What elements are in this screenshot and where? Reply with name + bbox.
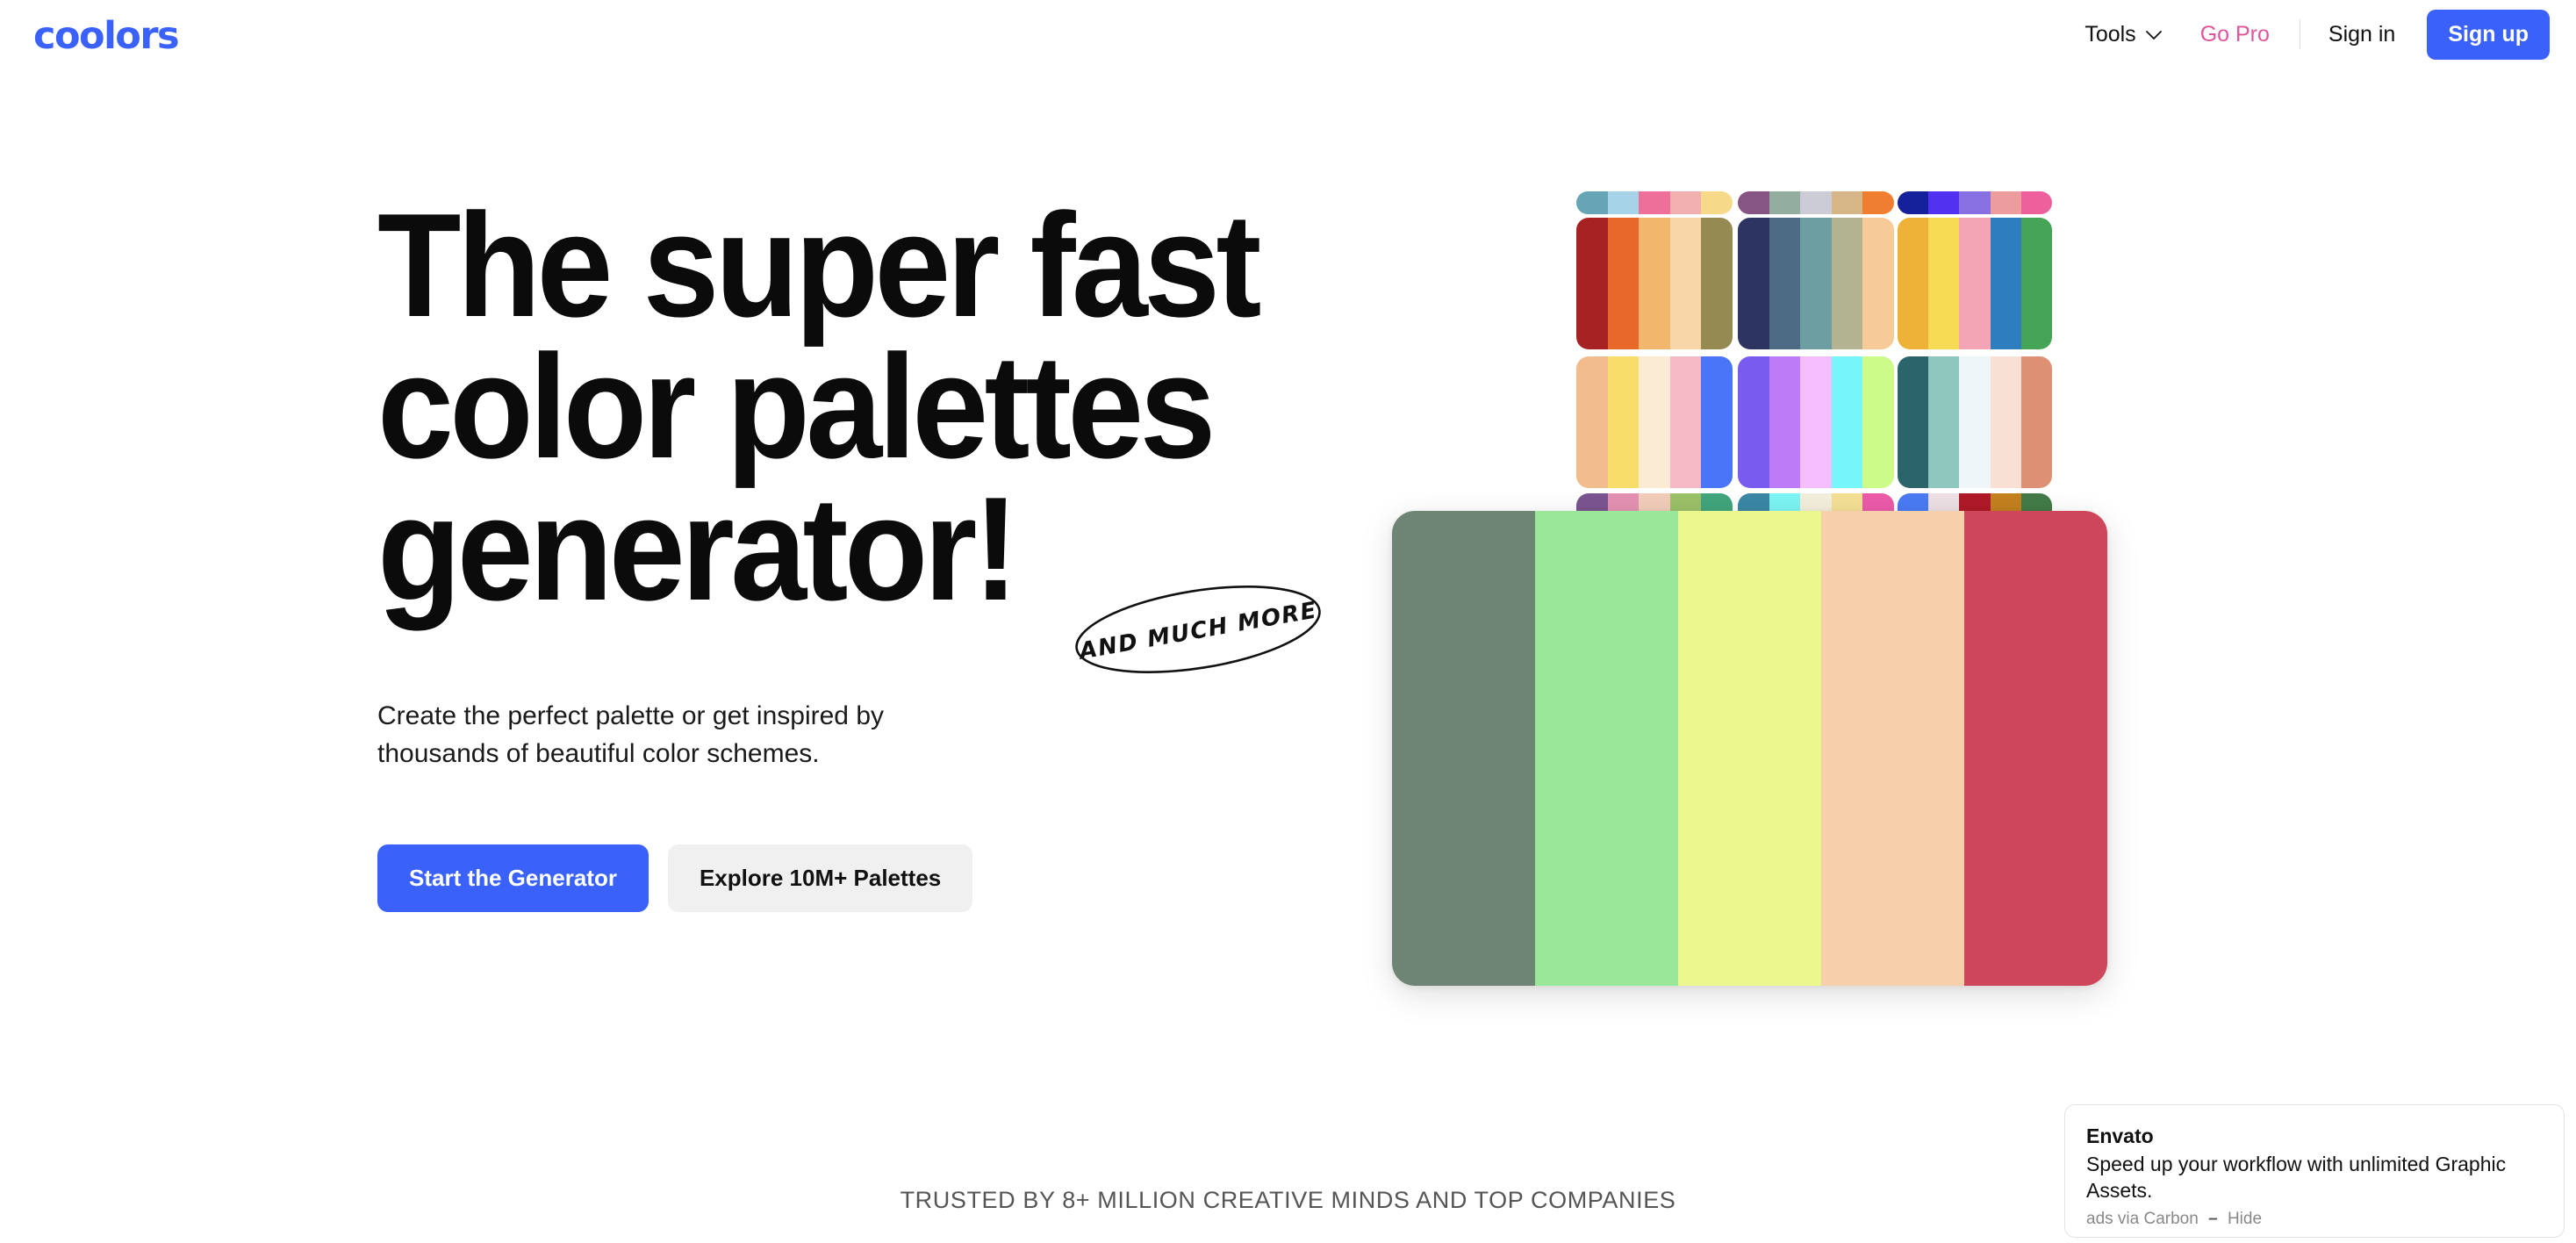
palette-swatch[interactable] <box>1991 356 2021 488</box>
ad-footer: ads via Carbon – Hide <box>2086 1210 2543 1229</box>
featured-palette-swatch[interactable] <box>1535 511 1678 986</box>
ad-hide-link[interactable]: Hide <box>2228 1210 2262 1228</box>
nav-tools-label: Tools <box>2084 22 2135 47</box>
chevron-down-icon <box>2146 31 2162 40</box>
palette-swatch[interactable] <box>1928 356 1959 488</box>
nav-item-tools[interactable]: Tools <box>2065 22 2180 47</box>
nav-item-go-pro[interactable]: Go Pro <box>2181 22 2289 47</box>
palette-row[interactable] <box>1576 191 1733 214</box>
nav-divider <box>2300 19 2300 49</box>
ad-separator: – <box>2208 1210 2218 1228</box>
palette-row[interactable] <box>1576 356 1733 488</box>
palette-swatch[interactable] <box>1800 356 1832 488</box>
carbon-ad-card[interactable]: Envato Speed up your workflow with unlim… <box>2064 1104 2565 1238</box>
palette-swatch[interactable] <box>1991 191 2021 214</box>
palette-row[interactable] <box>1738 218 1894 349</box>
page-title: The super fast color palettes generator! <box>377 195 1374 620</box>
palette-swatch[interactable] <box>1608 218 1640 349</box>
palette-swatch[interactable] <box>1576 191 1608 214</box>
palette-swatch[interactable] <box>1608 191 1640 214</box>
palette-swatch[interactable] <box>1670 218 1702 349</box>
top-navigation-bar: coolors Tools Go Pro Sign in Sign up <box>0 0 2576 68</box>
palette-swatch[interactable] <box>1898 191 1928 214</box>
coolors-logo[interactable]: coolors <box>33 14 178 58</box>
palette-swatch[interactable] <box>1928 218 1959 349</box>
palette-row[interactable] <box>1576 218 1733 349</box>
palette-swatch[interactable] <box>1800 218 1832 349</box>
nav-right-group: Tools Go Pro Sign in Sign up <box>2065 0 2550 68</box>
palette-swatch[interactable] <box>1769 218 1801 349</box>
sign-up-button[interactable]: Sign up <box>2427 10 2550 60</box>
ad-body-text: Speed up your workflow with unlimited Gr… <box>2086 1151 2543 1204</box>
palette-swatch[interactable] <box>1738 356 1769 488</box>
palette-swatch[interactable] <box>1701 218 1733 349</box>
palette-swatch[interactable] <box>1701 356 1733 488</box>
start-generator-button[interactable]: Start the Generator <box>377 844 649 912</box>
palette-swatch[interactable] <box>1576 356 1608 488</box>
palette-swatch[interactable] <box>1832 356 1863 488</box>
palette-row[interactable] <box>1738 356 1894 488</box>
featured-palette-swatch[interactable] <box>1821 511 1964 986</box>
palette-swatch[interactable] <box>1639 218 1670 349</box>
coolors-landing-page: coolors Tools Go Pro Sign in Sign up The… <box>0 0 2576 1243</box>
palette-swatch[interactable] <box>1608 356 1640 488</box>
palette-swatch[interactable] <box>1769 191 1801 214</box>
palette-swatch[interactable] <box>1959 218 1990 349</box>
palette-swatch[interactable] <box>1898 218 1928 349</box>
sign-in-link[interactable]: Sign in <box>2311 22 2413 47</box>
palette-swatch[interactable] <box>2021 218 2052 349</box>
ad-title: Envato <box>2086 1124 2543 1148</box>
palette-swatch[interactable] <box>1738 191 1769 214</box>
featured-palette-swatch[interactable] <box>1964 511 2107 986</box>
palette-swatch[interactable] <box>1959 191 1990 214</box>
palette-swatch[interactable] <box>1639 356 1670 488</box>
palette-swatch[interactable] <box>1991 218 2021 349</box>
palette-swatch[interactable] <box>1639 191 1670 214</box>
palette-swatch[interactable] <box>2021 356 2052 488</box>
palette-swatch[interactable] <box>1959 356 1990 488</box>
palette-swatch[interactable] <box>1862 356 1894 488</box>
palette-swatch[interactable] <box>1670 191 1702 214</box>
palette-swatch[interactable] <box>1862 191 1894 214</box>
palette-swatch[interactable] <box>1670 356 1702 488</box>
palette-row[interactable] <box>1898 218 2052 349</box>
hero-headline-block: The super fast color palettes generator! <box>377 195 1448 620</box>
palette-swatch[interactable] <box>1928 191 1959 214</box>
hero-subtitle: Create the perfect palette or get inspir… <box>377 698 1009 772</box>
explore-palettes-button[interactable]: Explore 10M+ Palettes <box>668 844 972 912</box>
featured-palette-card[interactable] <box>1392 511 2107 986</box>
palette-swatch[interactable] <box>1800 191 1832 214</box>
palette-swatch[interactable] <box>1576 218 1608 349</box>
palette-swatch[interactable] <box>1862 218 1894 349</box>
palette-swatch[interactable] <box>1701 191 1733 214</box>
palette-swatch[interactable] <box>1738 218 1769 349</box>
palette-swatch[interactable] <box>1832 191 1863 214</box>
palette-swatch[interactable] <box>1832 218 1863 349</box>
palette-swatch[interactable] <box>2021 191 2052 214</box>
palette-swatch[interactable] <box>1898 356 1928 488</box>
ads-via-carbon-label[interactable]: ads via Carbon <box>2086 1210 2199 1228</box>
palette-row[interactable] <box>1898 191 2052 214</box>
palette-swatch[interactable] <box>1769 356 1801 488</box>
featured-palette-swatch[interactable] <box>1678 511 1821 986</box>
palette-row[interactable] <box>1738 191 1894 214</box>
hero-cta-row: Start the Generator Explore 10M+ Palette… <box>377 844 972 912</box>
palette-row[interactable] <box>1898 356 2052 488</box>
featured-palette-swatch[interactable] <box>1392 511 1535 986</box>
